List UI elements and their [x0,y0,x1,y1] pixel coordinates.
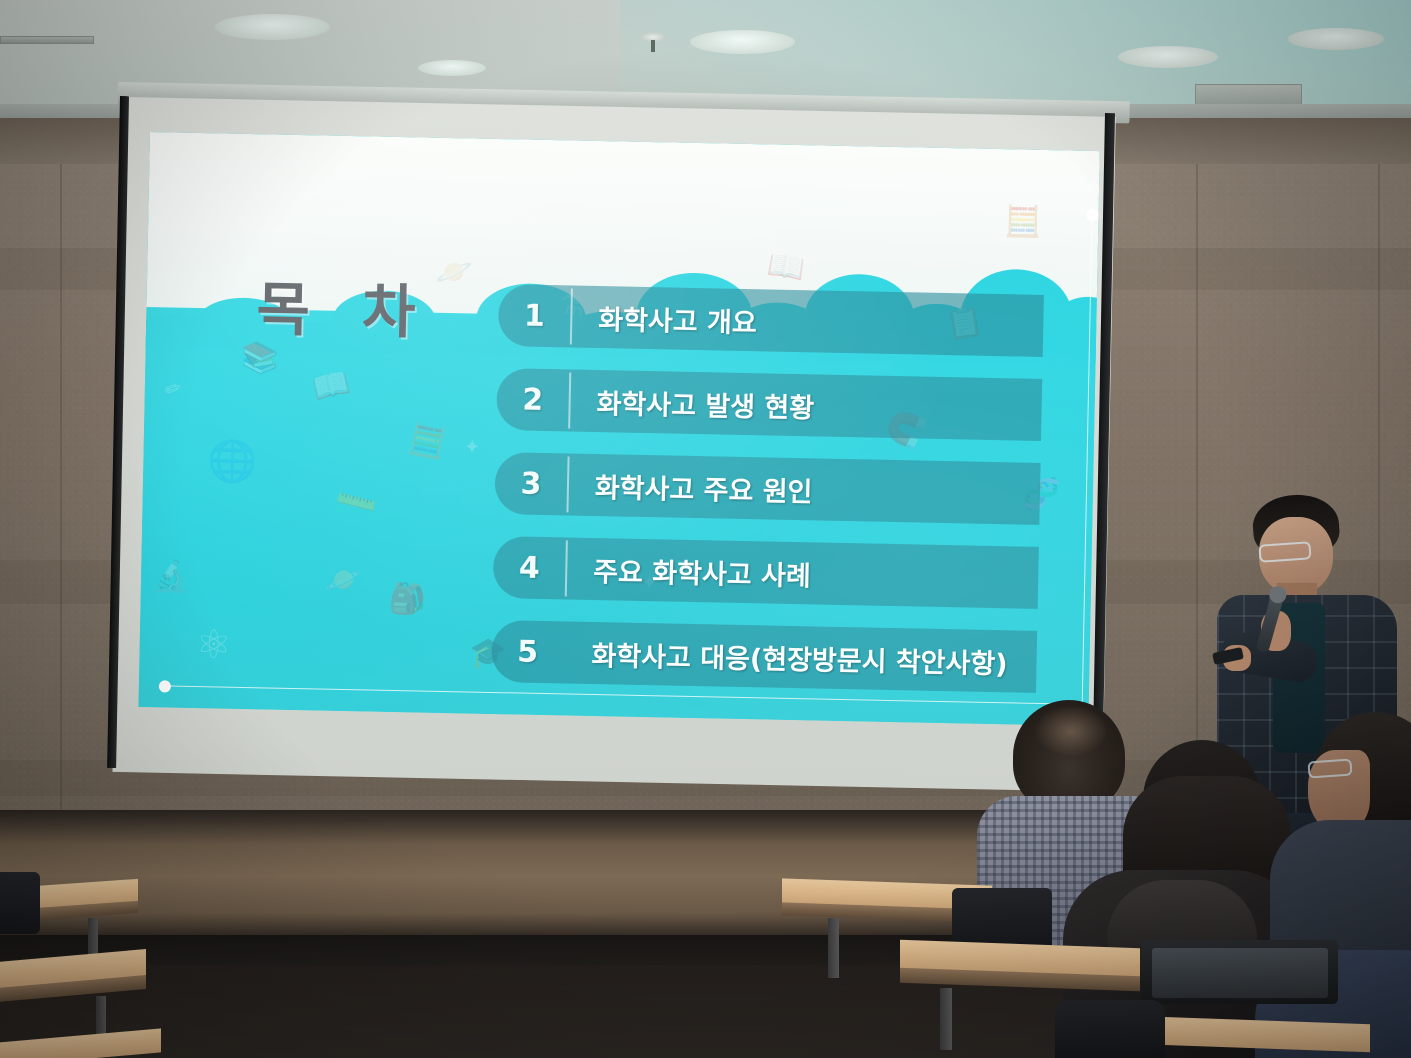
ceiling-rail [0,36,94,44]
toc-item-label: 화학사고 개요 [572,297,757,340]
toc-item-number: 2 [496,382,569,418]
atom-icon: ⚛ [195,625,232,666]
ceiling-downlight [1118,46,1218,68]
toc-item-label: 화학사고 주요 원인 [569,465,813,509]
toc-item-4[interactable]: 4 주요 화학사고 사례 [493,536,1039,609]
chair[interactable] [0,872,40,934]
toc-item-label: 주요 화학사고 사례 [567,549,811,593]
planet-icon: 🪐 [435,258,473,289]
calculator-icon: 🧮 [406,424,448,461]
sparkle-icon: ✦ [464,436,481,456]
ceiling-downlight [215,14,330,40]
ceiling-downlight [690,30,795,54]
glasses-icon [1258,541,1311,563]
glasses-icon [1307,758,1352,778]
toc-item-2[interactable]: 2 화학사고 발생 현황 [496,368,1042,441]
toc-item-number: 5 [491,633,564,669]
calculator-icon: 🧮 [1004,207,1042,238]
page-title: 목 차 [256,262,433,349]
bag-icon: 🎒 [388,585,426,616]
open-book-icon: 📖 [310,368,353,406]
projected-slide: 📚 📖 🌐 🔬 ⚛ 📏 🧮 🎒 🪐 🪐 ⚗ ✏ 🎓 📖 📋 🧮 🧲 🧬 ✦ ✦ … [138,132,1099,726]
toc-item-3[interactable]: 3 화학사고 주요 원인 [494,452,1040,525]
photo-scene: 📚 📖 🌐 🔬 ⚛ 📏 🧮 🎒 🪐 🪐 ⚗ ✏ 🎓 📖 📋 🧮 🧲 🧬 ✦ ✦ … [0,0,1411,1058]
book-icon: 📚 [241,344,279,375]
wall-panel-seam [60,164,62,814]
planet-icon: 🪐 [325,566,363,597]
microscope-icon: 🔬 [153,562,191,593]
ceiling-downlight [418,60,486,76]
table-leg [88,918,98,958]
toc-item-5[interactable]: 5 화학사고 대응(현장방문시 착안사항) [491,620,1037,693]
table-leg [828,918,839,978]
toc-item-number: 1 [498,298,571,334]
laptop-screen [1152,948,1328,998]
globe-icon: 🌐 [207,441,258,482]
toc-item-1[interactable]: 1 화학사고 개요 [498,284,1044,357]
chair[interactable] [1055,1000,1165,1058]
toc-item-number: 4 [493,549,566,585]
toc-item-number: 3 [495,465,568,501]
table-leg [940,988,952,1050]
sprinkler-head [640,32,666,42]
toc-list: 1 화학사고 개요 2 화학사고 발생 현황 3 화학사고 주요 원인 4 주요… [491,284,1044,715]
ceiling-downlight [1288,28,1384,50]
open-book-icon: 📖 [765,250,807,286]
toc-item-label: 화학사고 대응(현장방문시 착안사항) [565,633,1008,681]
toc-item-label: 화학사고 발생 현황 [570,381,814,425]
wall-panel-seam [1196,164,1198,814]
